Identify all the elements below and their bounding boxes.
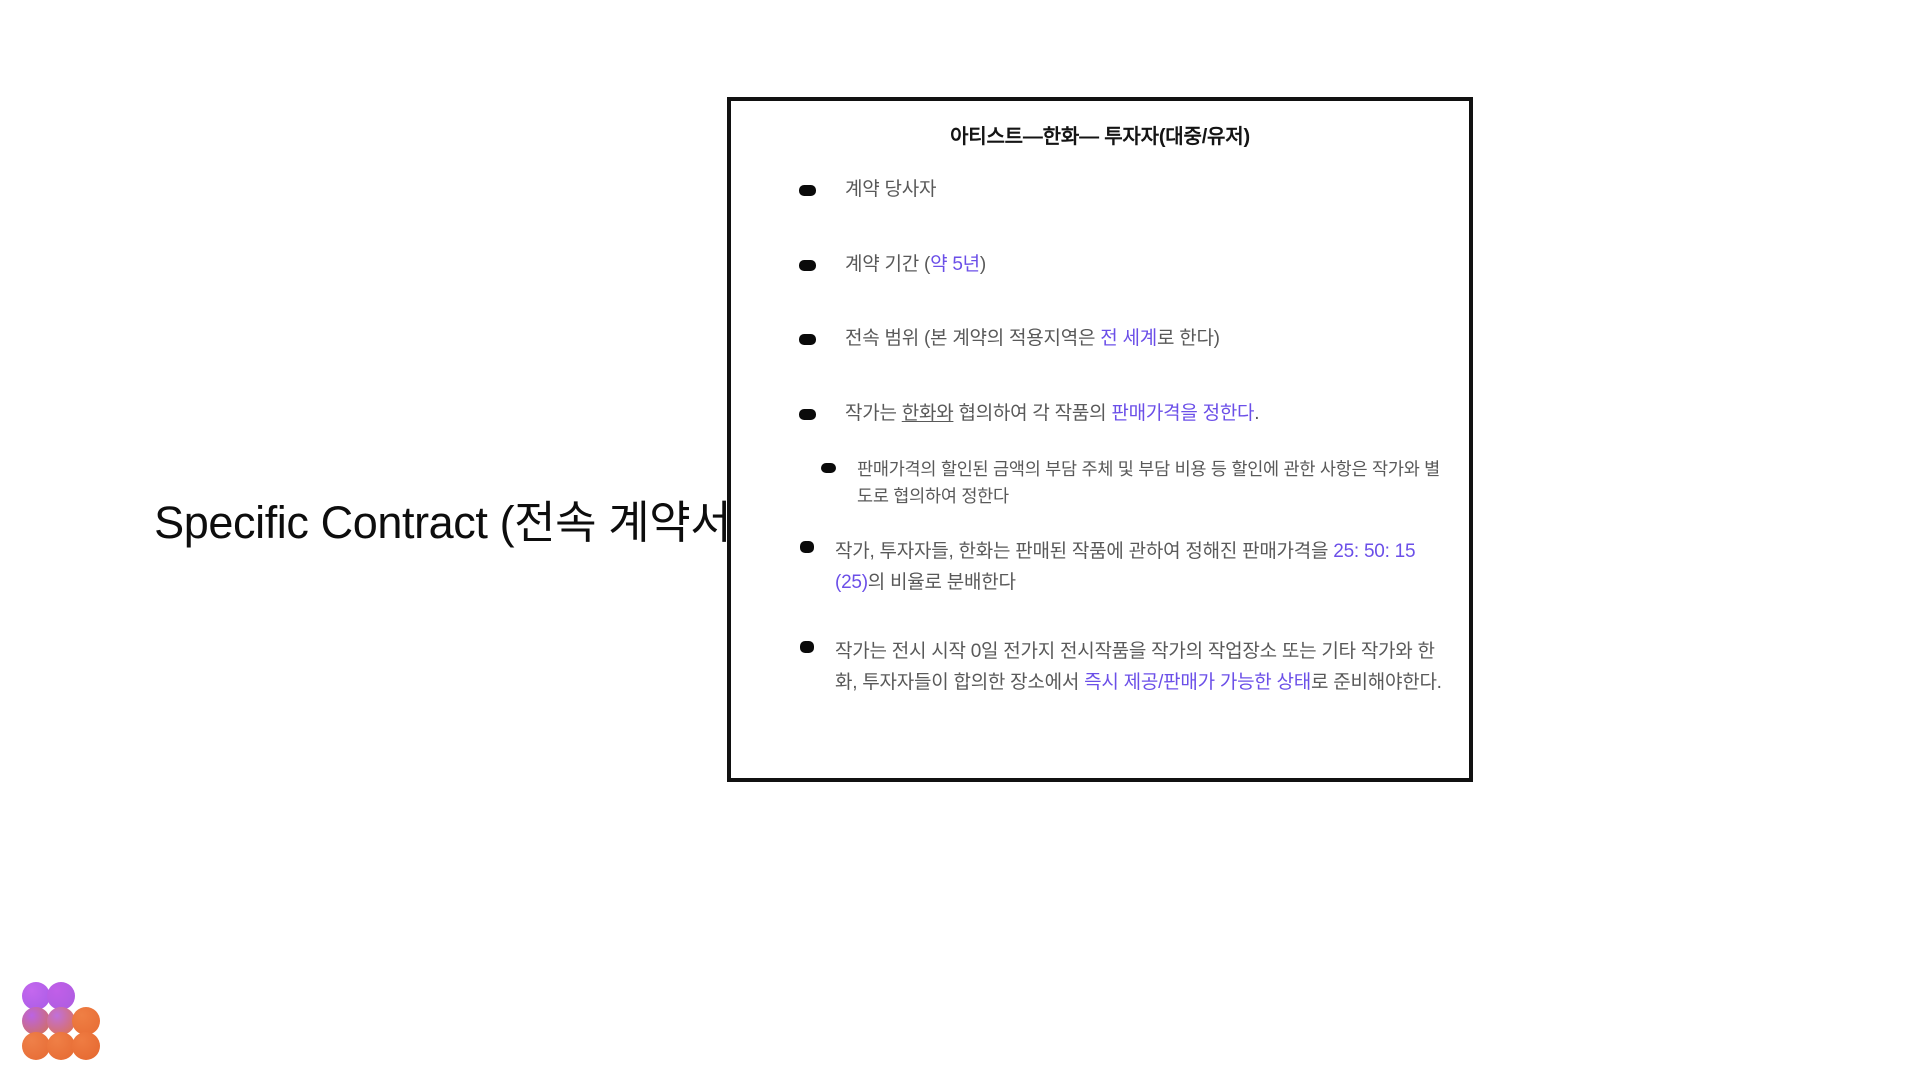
bullet-marker-icon xyxy=(799,334,816,345)
plain-text: 계약 당사자 xyxy=(845,179,936,200)
bullet-item-revenue-split: 작가, 투자자들, 한화는 판매된 작품에 관하여 정해진 판매가격을 25: … xyxy=(757,537,1443,599)
accent-text: 즉시 제공/판매가 가능한 상태 xyxy=(1084,672,1311,693)
bullet-item-artwork-delivery: 작가는 전시 시작 0일 전가지 전시작품을 작가의 작업장소 또는 기타 작가… xyxy=(757,637,1443,699)
logo-dot-icon xyxy=(22,1007,50,1035)
underlined-text: 한화와 xyxy=(902,403,954,424)
logo-dot-icon xyxy=(47,1007,75,1035)
bullet-item-exclusivity-scope: 전속 범위 (본 계약의 적용지역은 전 세계로 한다) xyxy=(757,325,1443,353)
logo-dot-icon xyxy=(47,1032,75,1060)
bullet-marker-icon xyxy=(821,463,836,473)
bullet-item-contract-parties: 계약 당사자 xyxy=(757,176,1443,204)
plain-text: 작가는 xyxy=(845,403,902,424)
plain-text: 의 비율로 분배한다 xyxy=(868,572,1016,593)
bullet-text: 작가, 투자자들, 한화는 판매된 작품에 관하여 정해진 판매가격을 25: … xyxy=(835,541,1415,593)
plain-text: 로 한다) xyxy=(1157,328,1220,349)
bullet-text: 계약 당사자 xyxy=(845,179,936,200)
plain-text: 작가, 투자자들, 한화는 판매된 작품에 관하여 정해진 판매가격을 xyxy=(835,541,1333,562)
accent-text: 약 5년 xyxy=(930,254,980,275)
bullet-item-discount-burden: 판매가격의 할인된 금액의 부담 주체 및 부담 비용 등 할인에 관한 사항은… xyxy=(757,456,1443,509)
contract-detail-box: 아티스트—한화— 투자자(대중/유저) 계약 당사자계약 기간 (약 5년)전속… xyxy=(727,97,1473,782)
bullet-item-contract-term: 계약 기간 (약 5년) xyxy=(757,251,1443,279)
plain-text: ) xyxy=(980,254,986,275)
plain-text: 협의하여 각 작품의 xyxy=(953,403,1111,424)
bullet-marker-icon xyxy=(799,185,816,196)
logo-dot-icon xyxy=(47,982,75,1010)
plain-text: . xyxy=(1254,403,1259,424)
logo-dot-icon xyxy=(72,1032,100,1060)
slide-canvas: Specific Contract (전속 계약서) 아티스트—한화— 투자자(… xyxy=(0,0,1920,1080)
bullet-marker-icon xyxy=(800,541,814,553)
contract-bullet-list: 계약 당사자계약 기간 (약 5년)전속 범위 (본 계약의 적용지역은 전 세… xyxy=(731,150,1469,698)
bullet-text: 작가는 전시 시작 0일 전가지 전시작품을 작가의 작업장소 또는 기타 작가… xyxy=(835,641,1442,693)
logo-dot-icon xyxy=(22,982,50,1010)
bullet-text: 판매가격의 할인된 금액의 부담 주체 및 부담 비용 등 할인에 관한 사항은… xyxy=(857,459,1440,506)
plain-text: 로 준비해야한다. xyxy=(1311,672,1442,693)
accent-text: 판매가격을 정한다 xyxy=(1111,403,1254,424)
bullet-marker-icon xyxy=(799,260,816,271)
logo-dot-icon xyxy=(22,1032,50,1060)
plain-text: 전속 범위 (본 계약의 적용지역은 xyxy=(845,328,1100,349)
contract-box-title: 아티스트—한화— 투자자(대중/유저) xyxy=(731,101,1469,150)
bullet-text: 작가는 한화와 협의하여 각 작품의 판매가격을 정한다. xyxy=(845,403,1259,424)
bullet-marker-icon xyxy=(800,641,814,653)
dot-grid-logo xyxy=(22,982,98,1058)
plain-text: 판매가격의 할인된 금액의 부담 주체 및 부담 비용 등 할인에 관한 사항은… xyxy=(857,459,1440,506)
bullet-text: 전속 범위 (본 계약의 적용지역은 전 세계로 한다) xyxy=(845,328,1220,349)
bullet-item-price-setting: 작가는 한화와 협의하여 각 작품의 판매가격을 정한다. xyxy=(757,400,1443,428)
bullet-marker-icon xyxy=(799,409,816,420)
accent-text: 전 세계 xyxy=(1100,328,1157,349)
plain-text: 계약 기간 ( xyxy=(845,254,930,275)
bullet-text: 계약 기간 (약 5년) xyxy=(845,254,986,275)
logo-dot-icon xyxy=(72,1007,100,1035)
